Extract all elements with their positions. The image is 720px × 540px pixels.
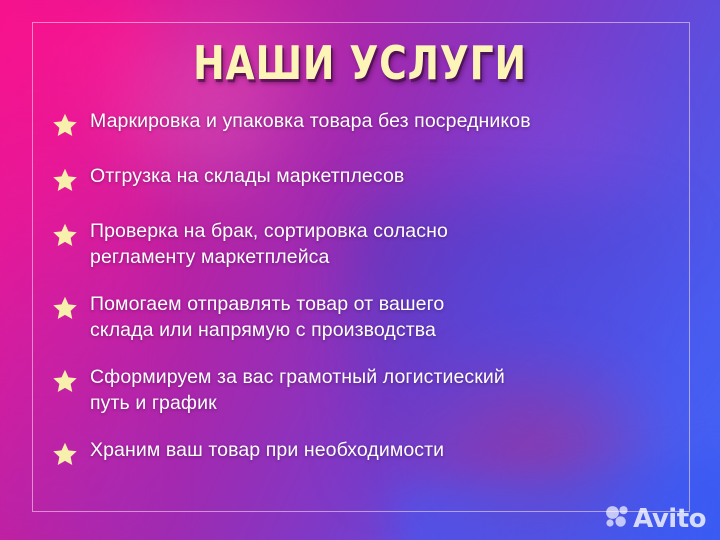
star-icon bbox=[52, 368, 82, 394]
poster-canvas: НАШИ УСЛУГИ Маркировка и упаковка товара… bbox=[0, 0, 720, 540]
list-item: Помогаем отправлять товар от вашего скла… bbox=[52, 291, 672, 343]
star-icon bbox=[52, 222, 82, 248]
list-item: Проверка на брак, сортировка соласно рег… bbox=[52, 218, 672, 270]
list-item-text: Проверка на брак, сортировка соласно рег… bbox=[90, 218, 672, 270]
services-list: Маркировка и упаковка товара без посредн… bbox=[52, 108, 672, 492]
list-item-text: Маркировка и упаковка товара без посредн… bbox=[90, 108, 672, 134]
star-icon bbox=[52, 167, 82, 193]
avito-dots-icon bbox=[605, 505, 629, 532]
list-item: Отгрузка на склады маркетплесов bbox=[52, 163, 672, 193]
list-item-line: Помогаем отправлять товар от вашего bbox=[90, 291, 672, 317]
list-item-line: регламенту маркетплейса bbox=[90, 244, 672, 270]
list-item-line: склада или напрямую с производства bbox=[90, 317, 672, 343]
list-item-text: Помогаем отправлять товар от вашего скла… bbox=[90, 291, 672, 343]
list-item: Храним ваш товар при необходимости bbox=[52, 437, 672, 467]
list-item-line: путь и график bbox=[90, 390, 672, 416]
page-title: НАШИ УСЛУГИ bbox=[65, 38, 655, 88]
list-item-line: Проверка на брак, сортировка соласно bbox=[90, 218, 672, 244]
star-icon bbox=[52, 441, 82, 467]
list-item-line: Отгрузка на склады маркетплесов bbox=[90, 163, 672, 189]
star-icon bbox=[52, 295, 82, 321]
list-item-line: Маркировка и упаковка товара без посредн… bbox=[90, 108, 672, 134]
list-item-text: Сформируем за вас грамотный логистиеский… bbox=[90, 364, 672, 416]
list-item: Сформируем за вас грамотный логистиеский… bbox=[52, 364, 672, 416]
list-item: Маркировка и упаковка товара без посредн… bbox=[52, 108, 672, 138]
list-item-line: Сформируем за вас грамотный логистиеский bbox=[90, 364, 672, 390]
star-icon bbox=[52, 112, 82, 138]
list-item-text: Храним ваш товар при необходимости bbox=[90, 437, 672, 463]
avito-wordmark: Avito bbox=[633, 506, 706, 532]
list-item-text: Отгрузка на склады маркетплесов bbox=[90, 163, 672, 189]
avito-watermark: Avito bbox=[605, 505, 706, 532]
list-item-line: Храним ваш товар при необходимости bbox=[90, 437, 672, 463]
